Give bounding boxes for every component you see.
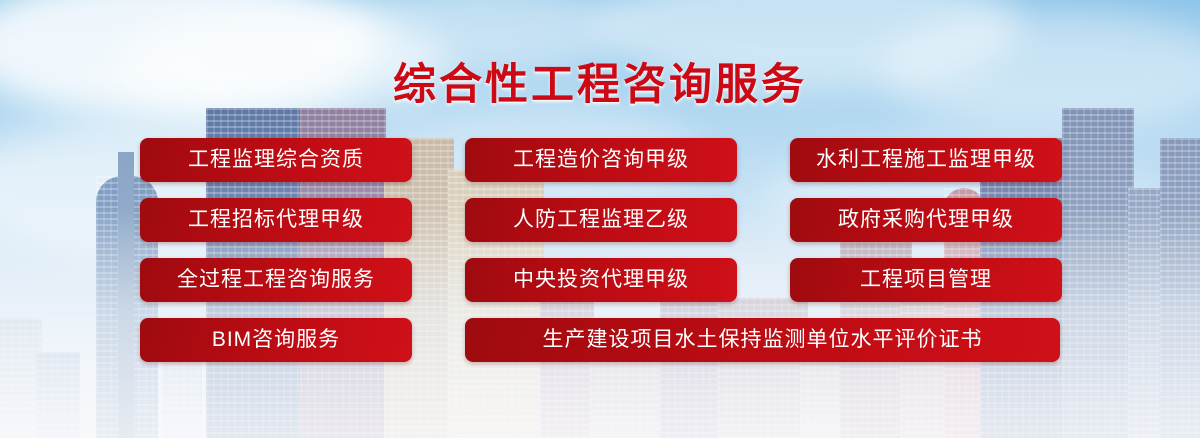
badge-row: 工程招标代理甲级人防工程监理乙级政府采购代理甲级	[140, 198, 1060, 242]
qualification-badge[interactable]: 水利工程施工监理甲级	[790, 138, 1062, 182]
promo-banner: 综合性工程咨询服务 工程监理综合资质工程造价咨询甲级水利工程施工监理甲级工程招标…	[0, 0, 1200, 438]
qualification-badge[interactable]: BIM咨询服务	[140, 318, 412, 362]
qualification-badge-grid: 工程监理综合资质工程造价咨询甲级水利工程施工监理甲级工程招标代理甲级人防工程监理…	[140, 138, 1060, 378]
qualification-badge[interactable]: 全过程工程咨询服务	[140, 258, 412, 302]
qualification-badge[interactable]: 工程招标代理甲级	[140, 198, 412, 242]
qualification-badge[interactable]: 工程造价咨询甲级	[465, 138, 737, 182]
badge-row: 全过程工程咨询服务中央投资代理甲级工程项目管理	[140, 258, 1060, 302]
banner-content: 综合性工程咨询服务 工程监理综合资质工程造价咨询甲级水利工程施工监理甲级工程招标…	[0, 0, 1200, 438]
qualification-badge[interactable]: 工程监理综合资质	[140, 138, 412, 182]
qualification-badge[interactable]: 政府采购代理甲级	[790, 198, 1062, 242]
qualification-badge[interactable]: 人防工程监理乙级	[465, 198, 737, 242]
qualification-badge[interactable]: 生产建设项目水土保持监测单位水平评价证书	[465, 318, 1060, 362]
page-title: 综合性工程咨询服务	[0, 50, 1200, 112]
qualification-badge[interactable]: 工程项目管理	[790, 258, 1062, 302]
badge-row: BIM咨询服务生产建设项目水土保持监测单位水平评价证书	[140, 318, 1060, 362]
qualification-badge[interactable]: 中央投资代理甲级	[465, 258, 737, 302]
badge-row: 工程监理综合资质工程造价咨询甲级水利工程施工监理甲级	[140, 138, 1060, 182]
